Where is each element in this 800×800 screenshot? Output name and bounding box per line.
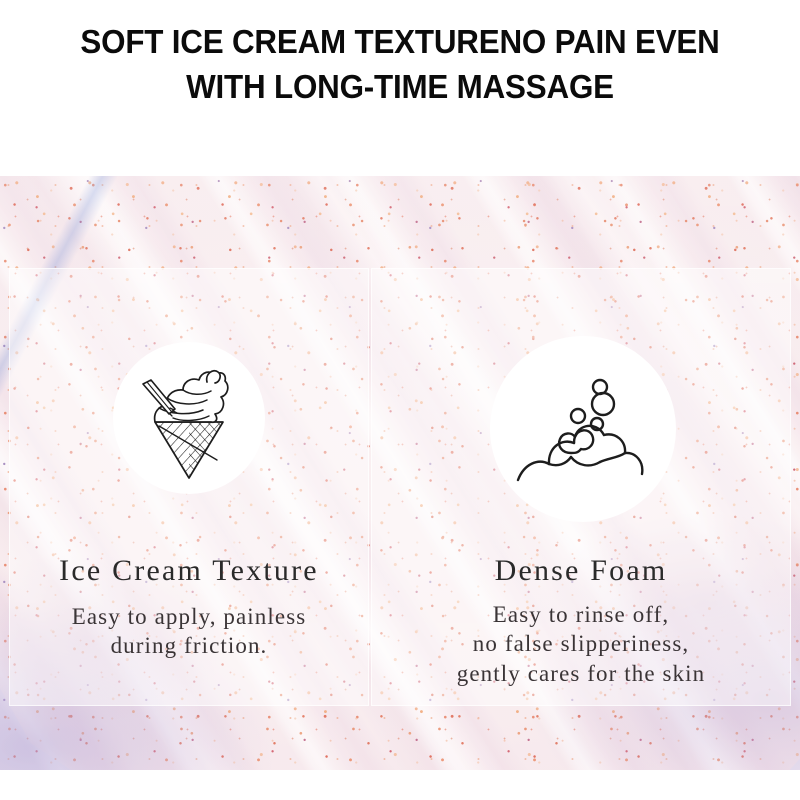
foam-icon-medallion xyxy=(490,336,676,522)
product-feature-banner: SOFT ICE CREAM TEXTURENO PAIN EVEN WITH … xyxy=(0,0,800,800)
ice-cream-cone-icon xyxy=(129,356,249,480)
foam-bubbles-icon xyxy=(508,354,658,504)
feature-title-dense-foam: Dense Foam xyxy=(371,554,791,589)
ice-cream-icon-medallion xyxy=(113,342,265,494)
page-title: SOFT ICE CREAM TEXTURENO PAIN EVEN WITH … xyxy=(20,20,780,110)
feature-title-ice-cream-texture: Ice Cream Texture xyxy=(9,554,369,589)
feature-description-dense-foam: Easy to rinse off, no false slipperiness… xyxy=(371,600,791,688)
feature-description-ice-cream-texture: Easy to apply, painless during friction. xyxy=(9,602,369,661)
